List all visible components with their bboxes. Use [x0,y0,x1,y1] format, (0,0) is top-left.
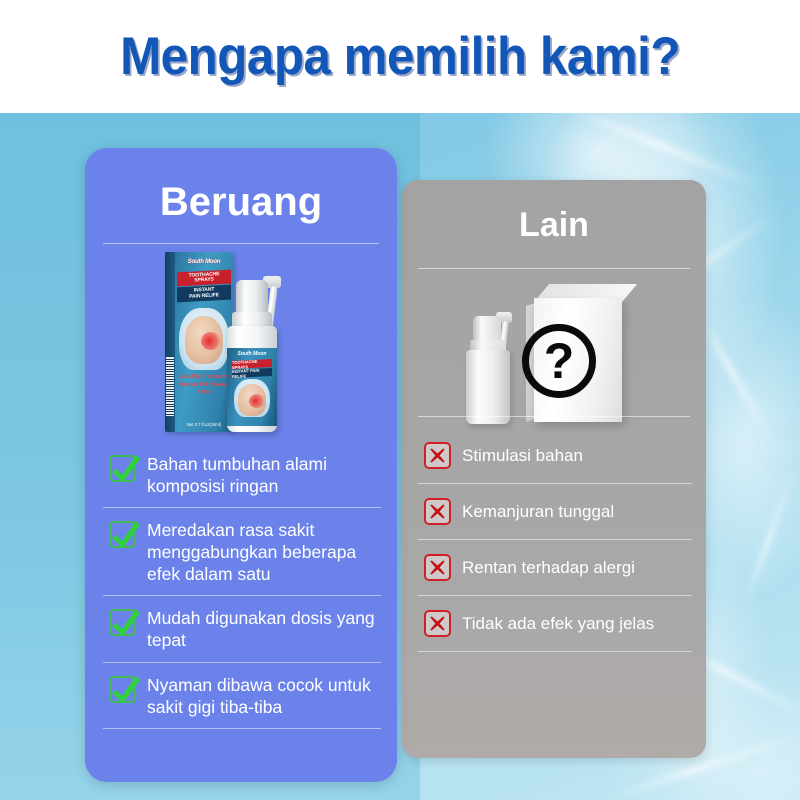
pain-indicator [201,332,221,350]
carton-banner-line2: SPRAYS [194,277,214,284]
check-icon [109,609,136,636]
our-product-image: South Moon TOOTHACHE SPRAYS INSTANT PAIN… [113,252,369,432]
our-product-heading: Beruang [85,180,397,225]
competitor-feature-list: Stimulasi bahan Kemanjuran tunggal Renta… [418,428,692,652]
our-feature-list: Bahan tumbuhan alami komposisi ringan Me… [103,442,381,729]
competitor-panel: Lain ? Stimulasi bahan [402,180,706,758]
bottle-blue-banner: INSTANT PAIN RELIFE [232,368,272,378]
list-item-label: Stimulasi bahan [462,445,583,466]
x-icon [424,498,451,525]
question-mark-icon: ? [522,324,596,398]
competitor-image-divider [418,416,690,417]
barcode [166,356,174,416]
competitor-heading-divider [418,268,690,269]
frost-streak [694,310,776,444]
bottle-tooth-graphic [234,379,270,417]
infographic-page: Mengapa memilih kami? Lain ? [0,0,800,800]
competitor-bottle [462,312,518,424]
list-item: Mudah digunakan dosis yang tepat [103,596,381,662]
bottle-brand-label: South Moon [227,351,277,357]
list-item: Tidak ada efek yang jelas [418,596,692,652]
list-item: Nyaman dibawa cocok untuk sakit gigi tib… [103,663,381,729]
x-icon [424,554,451,581]
bottle-body: South Moon TOOTHACHE SPRAYS INSTANT PAIN… [227,326,277,432]
check-icon [109,455,136,482]
our-heading-divider [103,243,379,244]
list-item-label: Mudah digunakan dosis yang tepat [147,607,381,651]
product-bottle: South Moon TOOTHACHE SPRAYS INSTANT PAIN… [221,272,285,432]
carton-banner-line4: PAIN RELIFE [189,293,219,300]
competitor-bottle-cap [473,316,501,342]
check-icon [109,521,136,548]
list-item: Rentan terhadap alergi [418,540,692,596]
frost-streak [743,469,797,603]
our-product-panel: Beruang South Moon TOOTHACHE SPRAYS INST… [85,148,397,782]
page-title: Mengapa memilih kami? [120,26,680,87]
list-item: Bahan tumbuhan alami komposisi ringan [103,442,381,508]
competitor-bottle-body [466,350,510,424]
list-item-label: Kemanjuran tunggal [462,501,614,522]
check-icon [109,676,136,703]
frost-streak [566,104,764,191]
carton-brand-label: South Moon [179,259,229,265]
list-item-label: Meredakan rasa sakit menggabungkan beber… [147,519,381,585]
list-item-label: Bahan tumbuhan alami komposisi ringan [147,453,381,497]
competitor-product-image: ? [438,284,672,426]
header-band: Mengapa memilih kami? [0,0,800,113]
list-item: Meredakan rasa sakit menggabungkan beber… [103,508,381,596]
bottle-cap [236,280,268,314]
x-icon [424,610,451,637]
list-item-label: Tidak ada efek yang jelas [462,613,654,634]
list-item: Stimulasi bahan [418,428,692,484]
list-item-label: Rentan terhadap alergi [462,557,635,578]
list-item: Kemanjuran tunggal [418,484,692,540]
list-item-label: Nyaman dibawa cocok untuk sakit gigi tib… [147,674,381,718]
x-icon [424,442,451,469]
bottle-label: South Moon TOOTHACHE SPRAYS INSTANT PAIN… [227,348,277,426]
bottle-pain-indicator [249,394,265,408]
competitor-heading: Lain [402,206,706,245]
